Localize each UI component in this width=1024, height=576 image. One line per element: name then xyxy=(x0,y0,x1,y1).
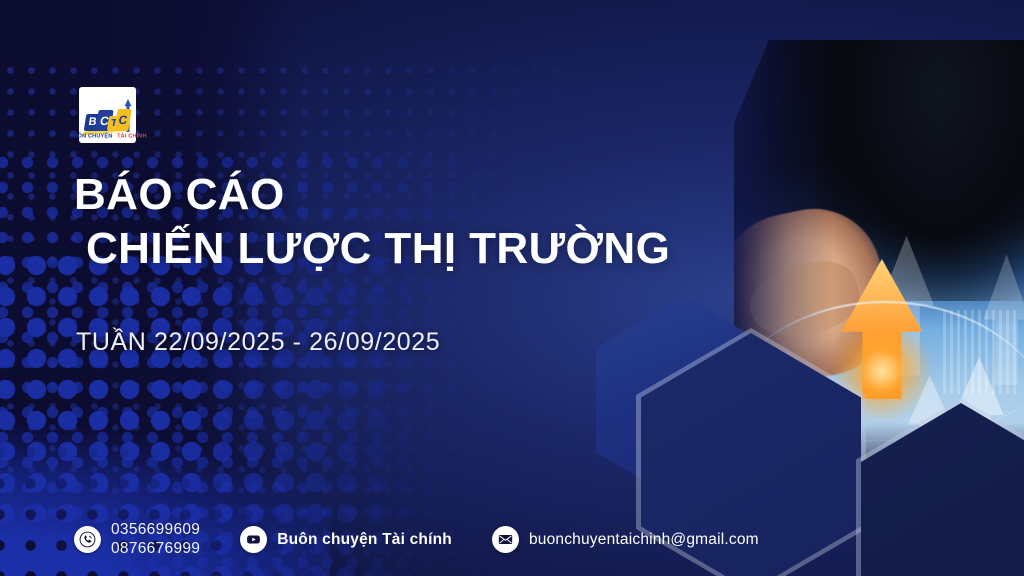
youtube-icon xyxy=(240,526,267,553)
page-title: BÁO CÁO CHIẾN LƯỢC THỊ TRƯỜNG xyxy=(74,168,670,275)
phone-numbers: 0356699609 0876676999 xyxy=(111,521,200,558)
phone-icon xyxy=(74,526,101,553)
brand-logo[interactable]: B C T C BUÔN CHUYỆN TÀI CHÍNH xyxy=(79,87,136,143)
brand-logo-mark: B C T C xyxy=(83,97,133,135)
logo-caption-secondary: TÀI CHÍNH xyxy=(117,133,147,139)
poster-canvas: B C T C BUÔN CHUYỆN TÀI CHÍNH BÁO CÁO CH… xyxy=(0,0,1024,576)
contact-bar: 0356699609 0876676999 Buôn chuyện Tài ch… xyxy=(74,521,759,558)
contact-youtube[interactable]: Buôn chuyện Tài chính xyxy=(240,526,452,553)
page-title-line-1: BÁO CÁO xyxy=(74,168,670,222)
youtube-channel-label: Buôn chuyện Tài chính xyxy=(277,531,452,549)
report-period: TUẦN 22/09/2025 - 26/09/2025 xyxy=(76,328,440,357)
background-left-panel xyxy=(0,0,300,576)
logo-caption-primary: BUÔN CHUYỆN xyxy=(69,133,112,139)
envelope-icon xyxy=(492,526,519,553)
page-title-line-2: CHIẾN LƯỢC THỊ TRƯỜNG xyxy=(86,222,670,276)
contact-email[interactable]: buonchuyentaichinh@gmail.com xyxy=(492,526,759,553)
contact-phone[interactable]: 0356699609 0876676999 xyxy=(74,521,200,558)
logo-letter-c2: C xyxy=(114,109,131,131)
phone-number-2: 0876676999 xyxy=(111,540,200,558)
brand-logo-caption: BUÔN CHUYỆN TÀI CHÍNH xyxy=(69,133,146,139)
email-address-label: buonchuyentaichinh@gmail.com xyxy=(529,531,759,549)
phone-number-1: 0356699609 xyxy=(111,521,200,539)
